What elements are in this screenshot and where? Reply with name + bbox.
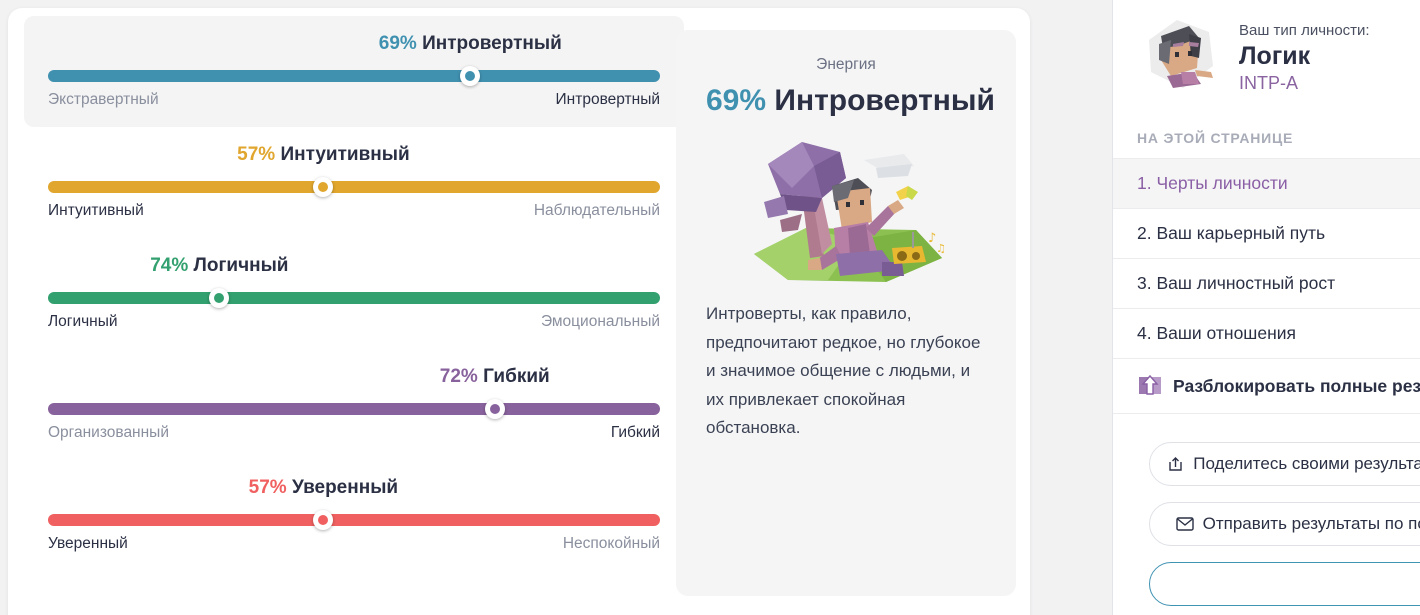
trait-name: Интровертный bbox=[422, 33, 562, 54]
trait-slider[interactable] bbox=[48, 403, 660, 415]
nav-item-4[interactable]: 4. Ваши отношения bbox=[1113, 309, 1420, 359]
trait-right-label: Неспокойный bbox=[563, 535, 660, 553]
trait-block: 57% УверенныйУверенныйНеспокойный bbox=[24, 460, 684, 571]
nav-item-2[interactable]: 2. Ваш карьерный путь bbox=[1113, 209, 1420, 259]
trait-heading: 74% Логичный bbox=[48, 254, 660, 278]
trait-knob[interactable] bbox=[485, 399, 505, 419]
trait-heading: 57% Уверенный bbox=[48, 476, 660, 500]
trait-knob[interactable] bbox=[460, 66, 480, 86]
trait-bar bbox=[48, 292, 660, 304]
energy-summary-card: Энергия 69% Интровертный bbox=[676, 30, 1016, 596]
trait-knob[interactable] bbox=[209, 288, 229, 308]
trait-left-label: Организованный bbox=[48, 424, 169, 442]
trait-right-label: Эмоциональный bbox=[541, 313, 660, 331]
energy-percent: 69% bbox=[706, 84, 766, 117]
trait-name: Гибкий bbox=[483, 366, 550, 387]
trait-block: 74% ЛогичныйЛогичныйЭмоциональный bbox=[24, 238, 684, 349]
share-results-button[interactable]: Поделитесь своими результатами bbox=[1149, 442, 1420, 486]
trait-block: 72% ГибкийОрганизованныйГибкий bbox=[24, 349, 684, 460]
unlock-full-results-item[interactable]: Разблокировать полные результаты bbox=[1113, 359, 1420, 414]
trait-heading: 72% Гибкий bbox=[48, 365, 660, 389]
trait-name: Логичный bbox=[194, 255, 289, 276]
trait-percent: 69% bbox=[379, 33, 417, 54]
trait-right-label: Интровертный bbox=[556, 91, 660, 109]
primary-action-button[interactable] bbox=[1149, 562, 1420, 606]
trait-heading: 69% Интровертный bbox=[48, 32, 660, 56]
on-this-page-label: НА ЭТОЙ СТРАНИЦЕ bbox=[1113, 114, 1420, 158]
type-kicker: Ваш тип личности: bbox=[1239, 22, 1370, 39]
type-code: INTP-A bbox=[1239, 73, 1370, 94]
unlock-arrow-icon bbox=[1137, 373, 1163, 399]
trait-block: 57% ИнтуитивныйИнтуитивныйНаблюдательный bbox=[24, 127, 684, 238]
trait-bar bbox=[48, 403, 660, 415]
energy-trait-name: Интровертный bbox=[774, 84, 995, 117]
trait-list: 69% ИнтровертныйЭкстравертныйИнтровертны… bbox=[24, 16, 684, 571]
trait-bar bbox=[48, 514, 660, 526]
results-page: 69% ИнтровертныйЭкстравертныйИнтровертны… bbox=[0, 0, 1420, 615]
unlock-label: Разблокировать полные результаты bbox=[1173, 376, 1420, 397]
trait-percent: 57% bbox=[237, 144, 275, 165]
nav-item-1[interactable]: 1. Черты личности bbox=[1113, 159, 1420, 209]
action-label: Поделитесь своими результатами bbox=[1193, 454, 1420, 474]
share-upload-icon bbox=[1167, 456, 1184, 473]
trait-slider[interactable] bbox=[48, 292, 660, 304]
trait-endpoints: УверенныйНеспокойный bbox=[48, 535, 660, 553]
avatar bbox=[1137, 14, 1223, 100]
trait-bar bbox=[48, 70, 660, 82]
nav-item-3[interactable]: 3. Ваш личностный рост bbox=[1113, 259, 1420, 309]
trait-knob[interactable] bbox=[313, 177, 333, 197]
trait-left-label: Интуитивный bbox=[48, 202, 144, 220]
trait-name: Уверенный bbox=[292, 477, 398, 498]
action-label: Отправить результаты по почте bbox=[1203, 514, 1420, 534]
email-results-button[interactable]: Отправить результаты по почте bbox=[1149, 502, 1420, 546]
results-sidebar: Ваш тип личности: Логик INTP-A НА ЭТОЙ С… bbox=[1112, 0, 1420, 615]
trait-knob[interactable] bbox=[313, 510, 333, 530]
energy-value: 69% Интровертный bbox=[706, 84, 986, 118]
trait-left-label: Экстравертный bbox=[48, 91, 159, 109]
trait-percent: 74% bbox=[150, 255, 188, 276]
trait-name: Интуитивный bbox=[280, 144, 409, 165]
trait-slider[interactable] bbox=[48, 181, 660, 193]
page-nav-list: 1. Черты личности2. Ваш карьерный путь3.… bbox=[1113, 158, 1420, 414]
trait-percent: 72% bbox=[440, 366, 478, 387]
type-name: Логик bbox=[1239, 41, 1370, 71]
svg-text:♫: ♫ bbox=[936, 242, 946, 255]
trait-left-label: Уверенный bbox=[48, 535, 128, 553]
energy-description: Интроверты, как правило, предпочитают ре… bbox=[706, 300, 986, 443]
introvert-illustration: ♪ ♫ bbox=[706, 136, 986, 286]
trait-block: 69% ИнтровертныйЭкстравертныйИнтровертны… bbox=[24, 16, 684, 127]
personality-type-header: Ваш тип личности: Логик INTP-A bbox=[1113, 0, 1420, 114]
trait-heading: 57% Интуитивный bbox=[48, 143, 660, 167]
trait-left-label: Логичный bbox=[48, 313, 118, 331]
sidebar-actions: Поделитесь своими результатамиОтправить … bbox=[1113, 414, 1420, 606]
trait-bar bbox=[48, 181, 660, 193]
trait-slider[interactable] bbox=[48, 514, 660, 526]
trait-percent: 57% bbox=[249, 477, 287, 498]
main-results-card: 69% ИнтровертныйЭкстравертныйИнтровертны… bbox=[8, 8, 1030, 615]
trait-slider[interactable] bbox=[48, 70, 660, 82]
energy-kicker: Энергия bbox=[706, 56, 986, 74]
trait-endpoints: ИнтуитивныйНаблюдательный bbox=[48, 202, 660, 220]
envelope-icon bbox=[1176, 517, 1194, 531]
trait-right-label: Гибкий bbox=[611, 424, 660, 442]
trait-endpoints: ЭкстравертныйИнтровертный bbox=[48, 91, 660, 109]
trait-endpoints: ЛогичныйЭмоциональный bbox=[48, 313, 660, 331]
trait-right-label: Наблюдательный bbox=[534, 202, 660, 220]
trait-endpoints: ОрганизованныйГибкий bbox=[48, 424, 660, 442]
